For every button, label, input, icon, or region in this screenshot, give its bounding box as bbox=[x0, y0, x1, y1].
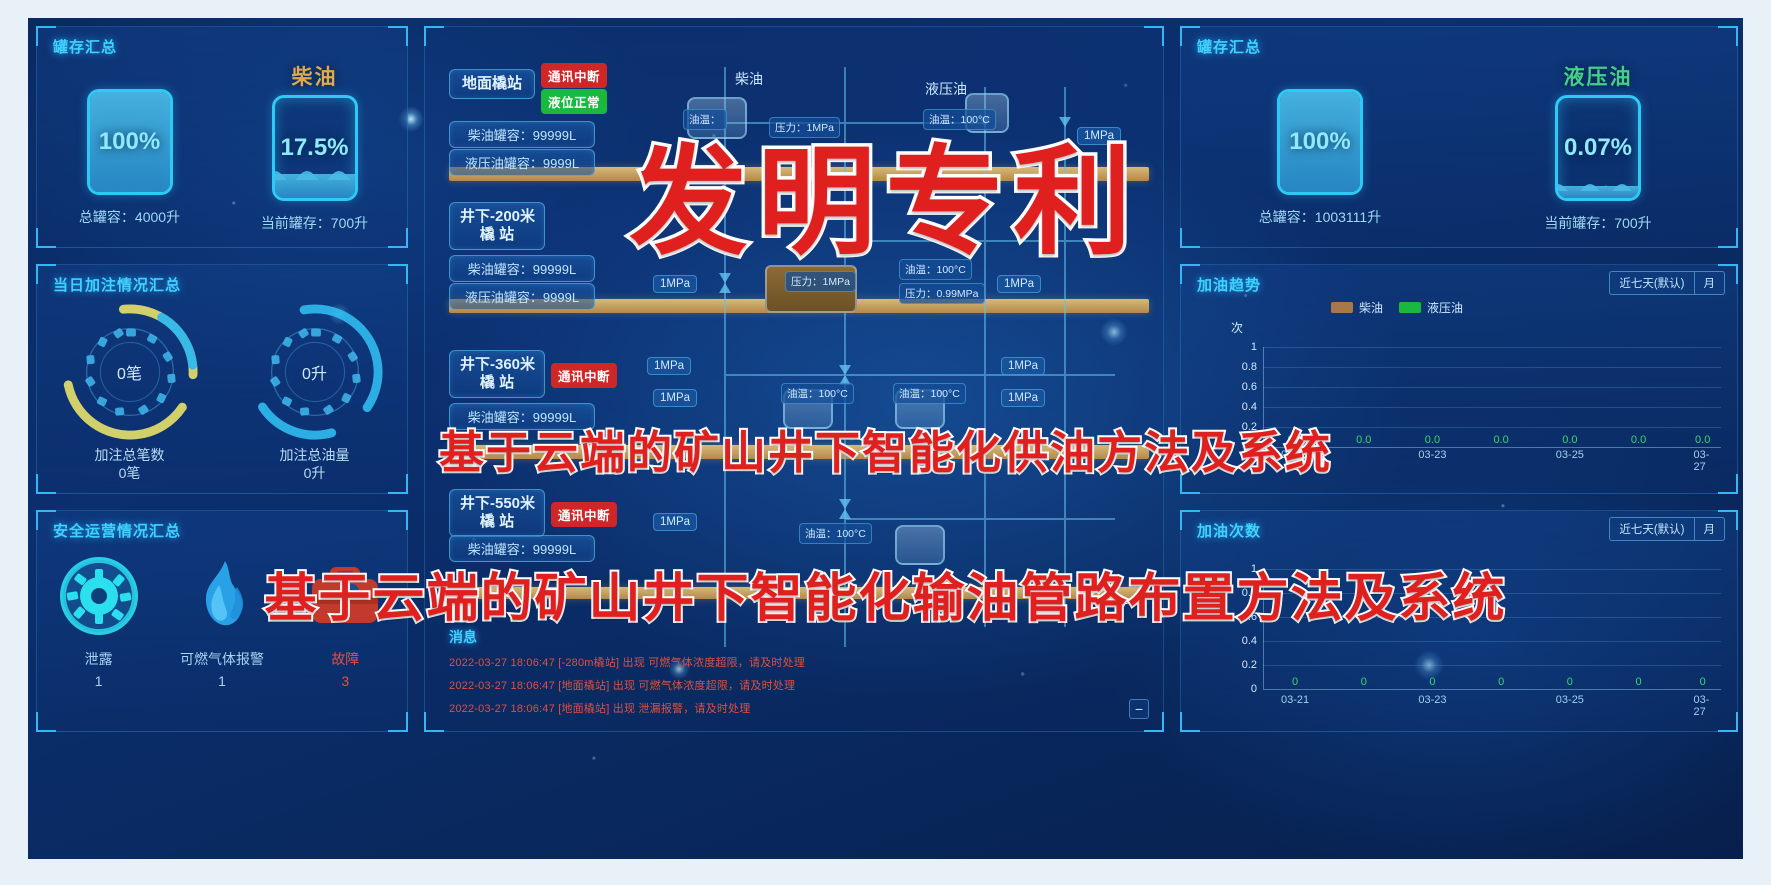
tank-current-caption: 当前罐存：700升 bbox=[1544, 213, 1651, 233]
pressure-tag: 1MPa bbox=[653, 275, 697, 293]
range-button-month[interactable]: 月 bbox=[1695, 517, 1726, 541]
message-row: 2022-03-27 18:06:47 [地面橇站] 出现 可燃气体浓度超限，请… bbox=[449, 677, 1139, 693]
y-tick: 0.2 bbox=[1242, 659, 1257, 671]
tank-gauge-current: 17.5% bbox=[272, 95, 358, 201]
data-label: 0 bbox=[1361, 676, 1367, 688]
safety-item-value: 1 bbox=[95, 673, 103, 689]
gridline bbox=[1263, 347, 1721, 348]
dashboard-screen: 罐存汇总 · 100% 总罐容：4000升 柴油 17. bbox=[28, 18, 1743, 859]
tank-total-caption: 总罐容：4000升 bbox=[79, 207, 180, 227]
y-tick: 0.4 bbox=[1242, 401, 1257, 413]
tank-gauge-total: 100% bbox=[1277, 89, 1363, 195]
range-selector-trend[interactable]: 近七天(默认) 月 bbox=[1609, 271, 1725, 295]
gauge-refuel-volume: 0升 加注总油量 0升 bbox=[222, 303, 407, 482]
station-name-line2: 橇 站 bbox=[460, 374, 534, 392]
sensor-tag: 压力：0.99MPa bbox=[899, 283, 985, 304]
status-badge-level: 液位正常 bbox=[541, 89, 607, 114]
watermark-line-2: 基于云端的矿山井下智能化输油管路布置方法及系统 bbox=[264, 556, 1506, 631]
chart-legend-trend: 柴油 液压油 bbox=[1331, 299, 1463, 316]
station-name-line2: 橇 站 bbox=[460, 226, 534, 244]
data-label: 0 bbox=[1567, 676, 1573, 688]
corner-accent bbox=[1718, 712, 1738, 732]
safety-item-label: 故障 bbox=[331, 649, 359, 669]
corner-accent bbox=[424, 26, 444, 46]
range-button-7days[interactable]: 近七天(默认) bbox=[1609, 271, 1694, 295]
tank-percent-label: 17.5% bbox=[275, 98, 355, 198]
x-tick: 03-21 bbox=[1281, 694, 1309, 706]
legend-item-diesel[interactable]: 柴油 bbox=[1331, 299, 1383, 316]
corner-accent bbox=[36, 712, 56, 732]
diesel-total-tank: · 100% 总罐容：4000升 bbox=[37, 61, 222, 233]
panel-title: 加油次数 bbox=[1197, 520, 1261, 541]
legend-label-diesel: 柴油 bbox=[1359, 299, 1383, 316]
station-tank-row: 液压油罐容：9999L bbox=[449, 149, 595, 176]
tank-percent-label: 100% bbox=[1280, 92, 1360, 192]
gauge-caption-line2: 0笔 bbox=[95, 465, 165, 483]
corner-accent bbox=[1718, 26, 1738, 46]
status-badge-comm: 通讯中断 bbox=[541, 63, 607, 88]
hydraulic-current-tank: 液压油 0.07% 当前罐存：700升 bbox=[1459, 61, 1737, 233]
gauge-value: 0笔 bbox=[61, 303, 199, 441]
x-axis-line bbox=[1263, 689, 1721, 690]
corner-accent bbox=[388, 26, 408, 46]
corner-accent bbox=[388, 712, 408, 732]
ring-gauge: 0升 bbox=[246, 303, 384, 441]
data-label: 0.0 bbox=[1356, 434, 1371, 446]
data-label: 0.0 bbox=[1631, 434, 1646, 446]
data-label: 0.0 bbox=[1695, 434, 1710, 446]
sensor-tag: 油温：100°C bbox=[799, 523, 872, 544]
pressure-tag: 1MPa bbox=[647, 357, 691, 375]
range-selector-count[interactable]: 近七天(默认) 月 bbox=[1609, 517, 1725, 541]
panel-title: 加油趋势 bbox=[1197, 274, 1261, 295]
gridline bbox=[1263, 665, 1721, 666]
y-tick: 0.6 bbox=[1242, 381, 1257, 393]
station-name-line1: 井下-550米 bbox=[460, 495, 534, 513]
legend-label-hydraulic: 液压油 bbox=[1427, 299, 1463, 316]
station-name-line1: 井下-360米 bbox=[460, 356, 534, 374]
gridline bbox=[1263, 407, 1721, 408]
data-label: 0.0 bbox=[1494, 434, 1509, 446]
station-tank-row: 柴油罐容：99999L bbox=[449, 121, 595, 148]
data-label: 0 bbox=[1635, 676, 1641, 688]
y-tick: 1 bbox=[1251, 341, 1257, 353]
legend-swatch-diesel bbox=[1331, 302, 1353, 313]
tank-percent-label: 100% bbox=[90, 92, 170, 192]
status-badge-comm: 通讯中断 bbox=[551, 363, 617, 388]
diesel-current-tank: 柴油 17.5% 当前罐存：700升 bbox=[222, 61, 407, 233]
gridline bbox=[1263, 387, 1721, 388]
gear-status-icon bbox=[56, 553, 142, 639]
pressure-tag: 1MPa bbox=[1001, 357, 1045, 375]
station-box-360m[interactable]: 井下-360米 橇 站 bbox=[449, 350, 545, 398]
pressure-tag: 1MPa bbox=[997, 275, 1041, 293]
sensor-tag: 油温：100°C bbox=[893, 383, 966, 404]
panel-daily-refuel-summary: 当日加注情况汇总 bbox=[36, 264, 408, 494]
oil-label-hydraulic: 液压油 bbox=[925, 79, 967, 99]
data-label: 0 bbox=[1498, 676, 1504, 688]
gauge-refuel-count: 0笔 加注总笔数 0笔 bbox=[37, 303, 222, 482]
gauge-value: 0升 bbox=[246, 303, 384, 441]
ring-gauge: 0笔 bbox=[61, 303, 199, 441]
station-tank-row: 柴油罐容：99999L bbox=[449, 255, 595, 282]
range-button-7days[interactable]: 近七天(默认) bbox=[1609, 517, 1694, 541]
data-label: 0 bbox=[1292, 676, 1298, 688]
x-tick: 03-25 bbox=[1556, 694, 1584, 706]
safety-item-value: 1 bbox=[218, 673, 226, 689]
corner-accent bbox=[1718, 474, 1738, 494]
pressure-tag: 1MPa bbox=[653, 389, 697, 407]
safety-item-label: 泄露 bbox=[85, 649, 113, 669]
safety-item-label: 可燃气体报警 bbox=[180, 649, 264, 669]
data-label: 0 bbox=[1700, 676, 1706, 688]
corner-accent bbox=[388, 264, 408, 284]
safety-item-value: 3 bbox=[341, 673, 349, 689]
message-row: 2022-03-27 18:06:47 [-280m橇站] 出现 可燃气体浓度超… bbox=[449, 654, 1139, 670]
watermark-line-1: 基于云端的矿山井下智能化供油方法及系统 bbox=[439, 416, 1332, 481]
corner-accent bbox=[424, 712, 444, 732]
message-row: 2022-03-27 18:06:47 [地面橇站] 出现 泄漏报警，请及时处理 bbox=[449, 700, 1139, 716]
tank-percent-label: 0.07% bbox=[1558, 98, 1638, 198]
oil-type-label: 液压油 bbox=[1564, 61, 1633, 91]
safety-item-leak: 泄露 1 bbox=[37, 553, 160, 689]
station-tank-row: 液压油罐容：9999L bbox=[449, 283, 595, 310]
y-tick: 0.8 bbox=[1242, 361, 1257, 373]
pressure-tag: 1MPa bbox=[653, 513, 697, 531]
station-box-ground[interactable]: 地面橇站 bbox=[449, 69, 535, 99]
gauge-caption: 加注总笔数 0笔 bbox=[95, 447, 165, 482]
oil-type-label: 柴油 bbox=[292, 61, 338, 91]
panel-title: 当日加注情况汇总 bbox=[53, 274, 181, 295]
gridline bbox=[1263, 641, 1721, 642]
station-name-line1: 井下-200米 bbox=[460, 208, 534, 226]
gauge-caption-line2: 0升 bbox=[280, 465, 350, 483]
x-tick: 03-25 bbox=[1556, 449, 1584, 461]
gauge-caption-line1: 加注总油量 bbox=[280, 447, 350, 465]
legend-swatch-hydraulic bbox=[1399, 302, 1421, 313]
gridline bbox=[1263, 367, 1721, 368]
x-tick: 03-27 bbox=[1694, 449, 1712, 473]
oil-label-diesel: 柴油 bbox=[735, 69, 763, 89]
x-tick: 03-23 bbox=[1418, 449, 1446, 461]
flame-icon bbox=[179, 553, 265, 639]
panel-title: 罐存汇总 bbox=[53, 36, 117, 57]
panel-left-tank-summary: 罐存汇总 · 100% 总罐容：4000升 柴油 17. bbox=[36, 26, 408, 248]
station-box-200m[interactable]: 井下-200米 橇 站 bbox=[449, 202, 545, 250]
corner-accent bbox=[388, 510, 408, 530]
status-badge-comm: 通讯中断 bbox=[551, 502, 617, 527]
legend-item-hydraulic[interactable]: 液压油 bbox=[1399, 299, 1463, 316]
corner-accent bbox=[1180, 712, 1200, 732]
y-axis-name-trend: 次 bbox=[1231, 319, 1243, 336]
panel-right-tank-summary: 罐存汇总 · 100% 总罐容：1003111升 液压油 bbox=[1180, 26, 1738, 248]
x-tick: 03-27 bbox=[1694, 694, 1712, 718]
hydraulic-total-tank: · 100% 总罐容：1003111升 bbox=[1181, 61, 1459, 233]
tank-total-caption: 总罐容：1003111升 bbox=[1259, 207, 1381, 227]
corner-accent bbox=[1144, 26, 1164, 46]
y-tick: 0 bbox=[1251, 683, 1257, 695]
x-tick: 03-23 bbox=[1418, 694, 1446, 706]
panel-title: 罐存汇总 bbox=[1197, 36, 1261, 57]
watermark-patent: 发明专利 bbox=[629, 106, 1141, 277]
tank-gauge-current: 0.07% bbox=[1555, 95, 1641, 201]
range-button-month[interactable]: 月 bbox=[1695, 271, 1726, 295]
station-name-line2: 橇 站 bbox=[460, 513, 534, 531]
data-label: 0 bbox=[1429, 676, 1435, 688]
sensor-tag: 油温：100°C bbox=[781, 383, 854, 404]
panel-title: 安全运营情况汇总 bbox=[53, 520, 181, 541]
outer-frame: 罐存汇总 · 100% 总罐容：4000升 柴油 17. bbox=[0, 0, 1771, 885]
tank-current-caption: 当前罐存：700升 bbox=[261, 213, 368, 233]
station-box-550m[interactable]: 井下-550米 橇 站 bbox=[449, 489, 545, 537]
zoom-out-button[interactable]: − bbox=[1129, 699, 1149, 719]
gauge-caption-line1: 加注总笔数 bbox=[95, 447, 165, 465]
message-log: 消息 2022-03-27 18:06:47 [-280m橇站] 出现 可燃气体… bbox=[449, 627, 1139, 716]
gauge-caption: 加注总油量 0升 bbox=[280, 447, 350, 482]
data-label: 0.0 bbox=[1425, 434, 1440, 446]
y-tick: 0.4 bbox=[1242, 635, 1257, 647]
data-label: 0.0 bbox=[1562, 434, 1577, 446]
tank-gauge-total: 100% bbox=[87, 89, 173, 195]
pressure-tag: 1MPa bbox=[1001, 389, 1045, 407]
